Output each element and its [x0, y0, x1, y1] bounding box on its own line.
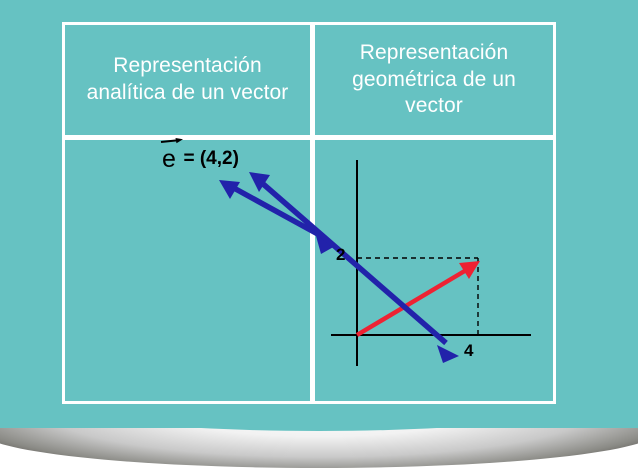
y-tick-label-2: 2 — [336, 245, 345, 265]
vector-overline-arrow-icon — [161, 138, 183, 147]
shadow-ellipse — [0, 428, 638, 468]
header-cell-geometric: Representación geométrica de un vector — [315, 25, 553, 135]
slide-drop-shadow — [0, 428, 638, 475]
slide-canvas: Representación analítica de un vector Re… — [0, 0, 638, 475]
vector-analytic-notation: e = (4,2) — [162, 147, 239, 173]
header-cell-analytic: Representación analítica de un vector — [65, 25, 310, 135]
comparison-table: Representación analítica de un vector Re… — [62, 22, 556, 404]
x-tick-label-4: 4 — [464, 341, 473, 361]
vector-letter: e — [162, 147, 178, 172]
vector-equation: = (4,2) — [183, 148, 238, 169]
body-cell-geometric — [315, 140, 553, 401]
body-cell-analytic: e = (4,2) — [65, 140, 310, 401]
